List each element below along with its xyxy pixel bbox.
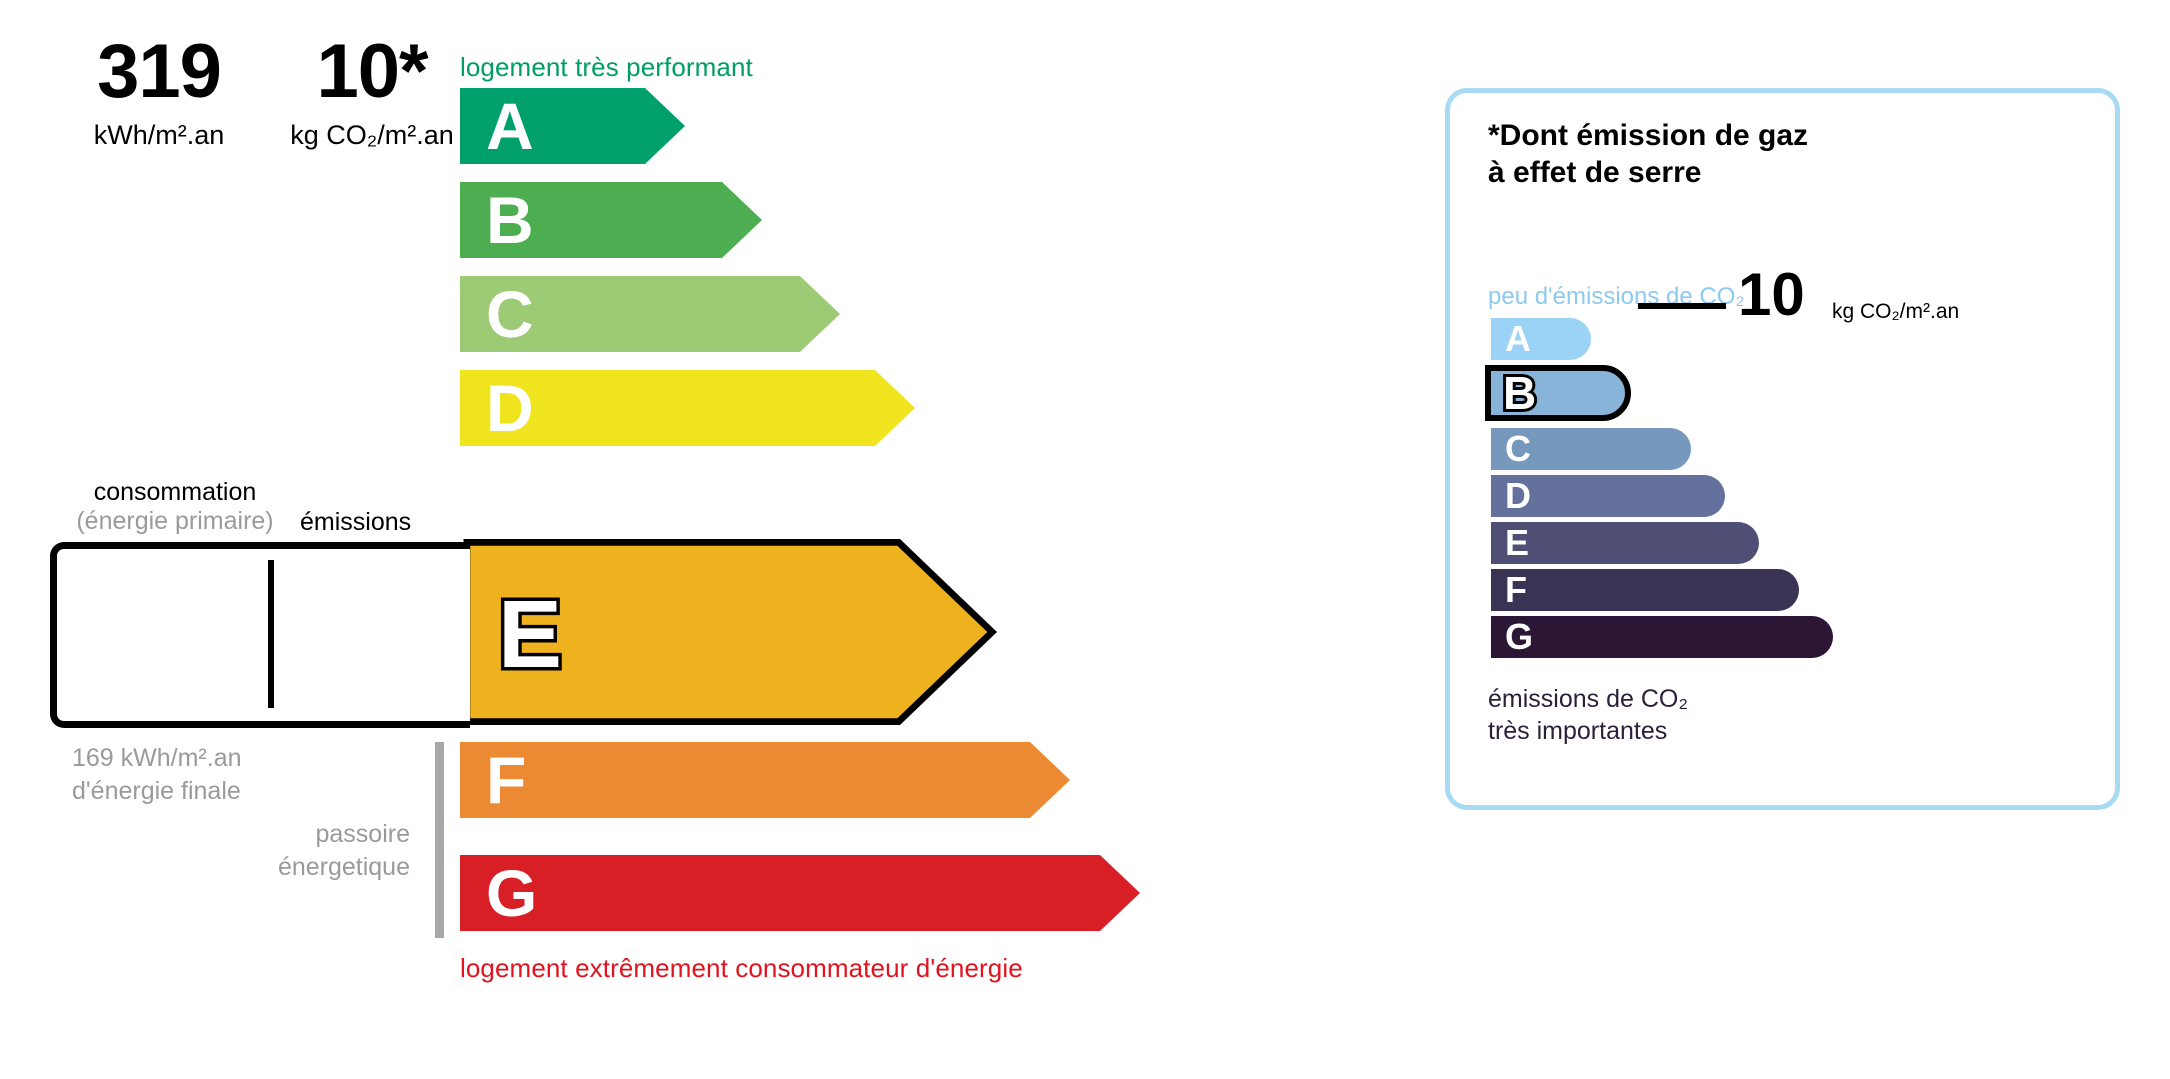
energy-band-letter: C bbox=[486, 281, 534, 347]
co2-band-letter: G bbox=[1505, 619, 1533, 655]
co2-band-letter: F bbox=[1505, 572, 1527, 608]
co2-emissions-panel: *Dont émission de gaz à effet de serre p… bbox=[1445, 88, 2120, 810]
energy-band-letter: D bbox=[486, 375, 534, 441]
co2-band-d: D bbox=[1491, 475, 1725, 517]
co2-value-unit: kg CO₂/m².an bbox=[1832, 300, 1959, 324]
energy-band-letter: F bbox=[486, 747, 526, 813]
co2-bottom-line1: émissions de CO₂ bbox=[1488, 683, 1688, 715]
energy-band-d: D bbox=[460, 370, 915, 446]
co2-band-a: A bbox=[1491, 318, 1591, 360]
energy-bottom-caption: logement extrêmement consommateur d'éner… bbox=[460, 953, 1023, 984]
energy-band-g: G bbox=[460, 855, 1140, 931]
co2-leader-line bbox=[1638, 303, 1726, 309]
energy-consumption-panel: logement très performant ABCDEFG 319 kWh… bbox=[0, 0, 1300, 1079]
passoire-line1: passoire bbox=[140, 818, 410, 851]
dpe-energy-label: logement très performant ABCDEFG 319 kWh… bbox=[0, 0, 2170, 1079]
emissions-label: émissions bbox=[300, 508, 411, 537]
final-energy-line1: 169 kWh/m².an bbox=[72, 742, 242, 775]
co2-band-g: G bbox=[1491, 616, 1833, 658]
co2-band-e: E bbox=[1491, 522, 1759, 564]
final-energy-line2: d'énergie finale bbox=[72, 775, 242, 808]
co2-bottom-line2: très importantes bbox=[1488, 715, 1688, 747]
consommation-label-main: consommation bbox=[60, 478, 290, 507]
energy-top-caption: logement très performant bbox=[460, 52, 753, 83]
co2-band-c: C bbox=[1491, 428, 1691, 470]
primary-energy-unit: kWh/m².an bbox=[50, 120, 268, 151]
co2-band-letter: C bbox=[1505, 431, 1531, 467]
consommation-label: consommation (énergie primaire) bbox=[60, 478, 290, 537]
consommation-label-sub: (énergie primaire) bbox=[60, 507, 290, 536]
co2-title-line2: à effet de serre bbox=[1488, 155, 1808, 192]
emission-unit: kg CO₂/m².an bbox=[274, 120, 470, 151]
co2-bottom-caption: émissions de CO₂ très importantes bbox=[1488, 683, 1688, 747]
co2-band-letter: E bbox=[1505, 525, 1529, 561]
co2-band-f: F bbox=[1491, 569, 1799, 611]
energy-band-letter: G bbox=[486, 860, 537, 926]
energy-band-b: B bbox=[460, 182, 762, 258]
energy-band-a: A bbox=[460, 88, 685, 164]
co2-band-letter: B bbox=[1503, 370, 1536, 416]
energy-band-shape bbox=[460, 855, 1140, 931]
co2-value: 10 bbox=[1738, 265, 1805, 325]
energy-band-e: E bbox=[460, 542, 1005, 728]
co2-band-b: B bbox=[1485, 365, 1631, 421]
energy-band-shape bbox=[460, 742, 1070, 818]
co2-band-letter: A bbox=[1505, 321, 1531, 357]
passoire-divider-rule bbox=[435, 742, 444, 938]
energy-band-f: F bbox=[460, 742, 1070, 818]
energy-band-c: C bbox=[460, 276, 840, 352]
passoire-line2: énergetique bbox=[140, 851, 410, 884]
passoire-energetique-label: passoire énergetique bbox=[140, 818, 410, 883]
energy-band-letter: B bbox=[486, 187, 534, 253]
primary-energy-value-cell: 319 kWh/m².an bbox=[50, 0, 268, 1079]
energy-band-letter: E bbox=[498, 587, 562, 683]
co2-band-letter: D bbox=[1505, 478, 1531, 514]
co2-panel-title: *Dont émission de gaz à effet de serre bbox=[1488, 118, 1808, 191]
primary-energy-value: 319 bbox=[50, 34, 268, 110]
final-energy-label: 169 kWh/m².an d'énergie finale bbox=[72, 742, 242, 807]
energy-band-letter: A bbox=[486, 93, 534, 159]
co2-title-line1: *Dont émission de gaz bbox=[1488, 118, 1808, 155]
emission-value: 10* bbox=[274, 34, 470, 110]
